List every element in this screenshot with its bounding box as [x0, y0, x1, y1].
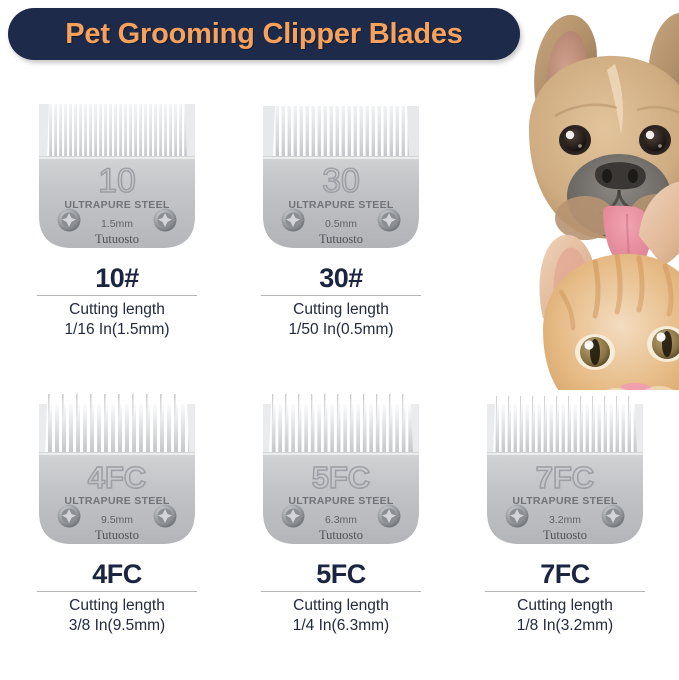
blade-card-5fc[interactable]: 5FC ULTRAPURE STEEL 6.3mm Tutuosto	[246, 384, 436, 636]
blade-engraved-mm: 6.3mm	[325, 514, 357, 526]
pet-photo-group	[499, 0, 679, 390]
blade-card-4fc[interactable]: 4FC ULTRAPURE STEEL 9.5mm Tutuosto	[22, 384, 212, 636]
blade-caption-4fc: 4FC Cutting length 3/8 In(9.5mm)	[37, 560, 197, 636]
blade-caption-label: Cutting length	[485, 596, 645, 616]
blade-screw-right	[154, 209, 177, 232]
blade-screw-left	[282, 209, 305, 232]
caption-divider	[261, 591, 421, 592]
blade-engraved-brand: Tutuosto	[543, 528, 587, 542]
caption-divider	[37, 591, 197, 592]
blade-card-7fc[interactable]: 7FC ULTRAPURE STEEL 3.2mm Tutuosto	[470, 384, 660, 636]
blade-engraved-steel: ULTRAPURE STEEL	[288, 495, 394, 507]
caption-divider	[485, 591, 645, 592]
blade-screw-right	[602, 505, 625, 528]
blade-caption-value: 1/4 In(6.3mm)	[261, 616, 421, 636]
blade-engraved-number: 10	[98, 162, 136, 200]
blade-caption-label: Cutting length	[37, 596, 197, 616]
blade-image-10: 10 ULTRAPURE STEEL 1.5mm Tutuosto	[25, 88, 209, 258]
blade-screw-right	[154, 505, 177, 528]
blade-caption-7fc: 7FC Cutting length 1/8 In(3.2mm)	[485, 560, 645, 636]
blade-engraved-number: 5FC	[312, 460, 371, 495]
blade-caption-value: 1/8 In(3.2mm)	[485, 616, 645, 636]
blade-screw-right	[378, 209, 401, 232]
blade-image-30: 30 ULTRAPURE STEEL 0.5mm Tutuosto	[249, 88, 433, 258]
blade-engraved-mm: 9.5mm	[101, 514, 133, 526]
blade-caption-value: 1/50 In(0.5mm)	[261, 320, 421, 340]
blade-engraved-steel: ULTRAPURE STEEL	[288, 199, 394, 211]
blade-row-bottom: 4FC ULTRAPURE STEEL 9.5mm Tutuosto	[0, 384, 679, 680]
blade-caption-title: 30#	[261, 264, 421, 292]
blade-caption-5fc: 5FC Cutting length 1/4 In(6.3mm)	[261, 560, 421, 636]
blade-engraved-mm: 0.5mm	[325, 218, 357, 230]
blade-screw-left	[506, 505, 529, 528]
blade-card-30[interactable]: 30 ULTRAPURE STEEL 0.5mm Tutuosto	[246, 88, 436, 340]
blade-screw-right	[378, 505, 401, 528]
blade-caption-label: Cutting length	[261, 596, 421, 616]
blade-engraved-steel: ULTRAPURE STEEL	[64, 495, 170, 507]
blade-image-5fc: 5FC ULTRAPURE STEEL 6.3mm Tutuosto	[249, 384, 433, 554]
blade-engraved-mm: 1.5mm	[101, 218, 133, 230]
pet-photos-svg	[499, 0, 679, 390]
blade-caption-label: Cutting length	[261, 300, 421, 320]
blade-engraved-steel: ULTRAPURE STEEL	[512, 495, 618, 507]
caption-divider	[261, 295, 421, 296]
blade-engraved-brand: Tutuosto	[319, 528, 363, 542]
blade-caption-value: 3/8 In(9.5mm)	[37, 616, 197, 636]
blade-caption-title: 10#	[37, 264, 197, 292]
blade-caption-label: Cutting length	[37, 300, 197, 320]
title-banner: Pet Grooming Clipper Blades	[8, 8, 520, 60]
blade-image-4fc: 4FC ULTRAPURE STEEL 9.5mm Tutuosto	[25, 384, 209, 554]
blade-caption-title: 4FC	[37, 560, 197, 588]
blade-engraved-brand: Tutuosto	[95, 232, 139, 246]
blade-engraved-number: 30	[322, 162, 360, 200]
blade-engraved-number: 7FC	[536, 460, 595, 495]
blade-caption-10: 10# Cutting length 1/16 In(1.5mm)	[37, 264, 197, 340]
blade-caption-title: 7FC	[485, 560, 645, 588]
blade-caption-title: 5FC	[261, 560, 421, 588]
blade-screw-left	[58, 505, 81, 528]
page-title: Pet Grooming Clipper Blades	[65, 18, 462, 51]
caption-divider	[37, 295, 197, 296]
blade-engraved-steel: ULTRAPURE STEEL	[64, 199, 170, 211]
blade-caption-30: 30# Cutting length 1/50 In(0.5mm)	[261, 264, 421, 340]
blade-engraved-mm: 3.2mm	[549, 514, 581, 526]
blade-image-7fc: 7FC ULTRAPURE STEEL 3.2mm Tutuosto	[473, 384, 657, 554]
blade-card-10[interactable]: 10 ULTRAPURE STEEL 1.5mm Tutuosto	[22, 88, 212, 340]
blade-engraved-brand: Tutuosto	[95, 528, 139, 542]
blade-engraved-brand: Tutuosto	[319, 232, 363, 246]
blade-screw-left	[58, 209, 81, 232]
blade-caption-value: 1/16 In(1.5mm)	[37, 320, 197, 340]
blade-engraved-number: 4FC	[88, 460, 147, 495]
blade-screw-left	[282, 505, 305, 528]
